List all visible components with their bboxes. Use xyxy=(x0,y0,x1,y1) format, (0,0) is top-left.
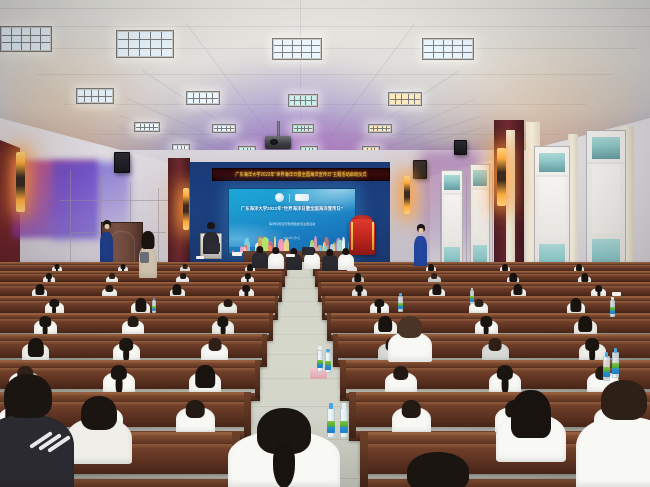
screen-subtitle: 海洋科普宣传暨增殖放流主题活动 xyxy=(239,222,345,226)
person-hair xyxy=(109,273,115,279)
water-bottle xyxy=(398,296,403,312)
window-mullion xyxy=(587,235,625,237)
ceiling-light-panel xyxy=(368,124,392,133)
partner-logo-icon xyxy=(295,194,309,201)
light-cell xyxy=(306,101,310,105)
light-cell xyxy=(178,146,181,149)
photographer xyxy=(139,232,157,278)
light-cell xyxy=(370,126,373,128)
bottle-cap xyxy=(329,403,334,408)
audience-member xyxy=(385,364,418,394)
water-bottle xyxy=(327,408,335,438)
guest-torso xyxy=(268,253,284,269)
light-cell xyxy=(309,126,312,128)
audience-member xyxy=(189,364,222,394)
light-cell xyxy=(92,90,98,96)
audience-member xyxy=(176,398,215,434)
projection-screen: 广东海洋大学2022年“世界海洋日暨全国海洋宣传日” 海洋科普宣传暨增殖放流主题… xyxy=(228,188,356,254)
bottle-cap xyxy=(318,346,321,350)
light-cell xyxy=(200,93,205,98)
audience-member xyxy=(113,337,140,362)
light-cell xyxy=(301,101,305,105)
person-hair-long xyxy=(514,284,523,295)
light-cell xyxy=(140,49,150,56)
light-cell xyxy=(174,146,177,149)
ceiling-seam xyxy=(0,8,650,9)
light-cell xyxy=(12,43,21,50)
foreground-head xyxy=(404,452,472,487)
person-hair-long xyxy=(578,316,592,332)
light-cell xyxy=(312,40,320,45)
usher-dress xyxy=(100,232,113,262)
drape-tassel-left xyxy=(351,222,353,250)
lecture-hall-photo: 广东海洋大学2022年“世界海洋日暨全国海洋宣传日”主题活动启动仪式 广东海洋大… xyxy=(0,0,650,487)
person-hair xyxy=(4,374,52,418)
audience-member xyxy=(489,364,522,394)
light-panel-grid xyxy=(118,32,172,56)
light-cell xyxy=(453,40,462,45)
guest-hair xyxy=(256,246,263,253)
light-cell xyxy=(31,28,40,35)
light-cell xyxy=(444,53,453,58)
light-cell xyxy=(207,99,212,104)
light-cell xyxy=(182,146,185,149)
camera-bag-icon xyxy=(140,252,149,263)
light-cell xyxy=(396,94,401,99)
light-cell xyxy=(312,46,320,51)
light-cell xyxy=(129,49,139,56)
stage-guest xyxy=(338,248,354,270)
desk-end-panel xyxy=(349,392,356,438)
wall-speaker xyxy=(454,140,467,155)
light-cell xyxy=(434,40,443,45)
window-mullion xyxy=(442,244,462,246)
light-cell xyxy=(2,43,11,50)
light-cell xyxy=(99,97,105,103)
person-hair-long xyxy=(570,298,581,311)
bottle-label xyxy=(317,360,323,369)
light-cell xyxy=(302,40,310,45)
desk-end-panel xyxy=(318,282,321,301)
person-hair-long xyxy=(510,273,517,282)
person-hair-long xyxy=(354,273,361,282)
light-cell xyxy=(207,93,212,98)
light-cell xyxy=(378,129,381,131)
person-torso xyxy=(576,417,650,487)
paper-sheet xyxy=(286,254,295,257)
light-cell xyxy=(218,126,221,128)
bottle-label xyxy=(398,303,403,309)
bottle-label xyxy=(325,361,331,369)
light-cell xyxy=(129,32,139,39)
light-cell xyxy=(188,93,193,98)
desk-end-panel xyxy=(360,432,368,487)
person-hair xyxy=(407,452,469,487)
light-cell xyxy=(390,94,395,99)
foreground-audience-member-left xyxy=(0,378,74,487)
water-bottle xyxy=(325,352,331,373)
light-cell xyxy=(295,96,299,100)
audience-member xyxy=(482,337,509,362)
desk-end-panel xyxy=(340,360,346,399)
person-hair xyxy=(81,396,117,430)
light-cell xyxy=(85,97,91,103)
light-cell xyxy=(298,129,301,131)
light-cell xyxy=(22,28,31,35)
stage-guest xyxy=(322,249,338,271)
window-mullion xyxy=(535,175,569,177)
light-cell xyxy=(2,28,11,35)
window-glass-top xyxy=(592,137,621,159)
light-cell xyxy=(302,46,310,51)
desk-end-panel xyxy=(279,282,282,301)
stage-guest xyxy=(286,248,302,270)
desk-end-panel xyxy=(282,271,285,286)
water-bottle xyxy=(610,300,615,317)
panel-seam xyxy=(60,200,168,201)
stage-guest xyxy=(268,247,284,269)
person-hair xyxy=(208,338,221,350)
light-cell xyxy=(136,128,140,131)
light-cell xyxy=(162,49,172,56)
ceiling-projector xyxy=(265,136,291,149)
light-cell xyxy=(312,101,316,105)
bottle-label xyxy=(612,363,619,373)
light-cell xyxy=(214,126,217,128)
light-cell xyxy=(283,40,291,45)
light-cell xyxy=(290,101,294,105)
usher-face xyxy=(104,224,109,229)
light-cell xyxy=(415,94,420,99)
window-glass-top xyxy=(473,170,487,186)
person-hair-long xyxy=(28,338,44,357)
light-panel-grid xyxy=(390,94,420,104)
water-bottle xyxy=(152,300,156,313)
person-hair-long xyxy=(195,365,215,388)
audience-member xyxy=(496,392,566,462)
light-cell xyxy=(294,126,297,128)
led-banner-text: 广东海洋大学2022年“世界海洋日暨全国海洋宣传日”主题活动启动仪式 xyxy=(235,171,367,178)
light-cell xyxy=(424,53,433,58)
light-cell xyxy=(136,124,140,127)
light-cell xyxy=(370,129,373,131)
ceiling-light-panel xyxy=(186,91,220,105)
foreground-audience-member xyxy=(228,408,340,487)
bottle-cap xyxy=(605,352,609,357)
screen-title: 广东海洋大学2022年“世界海洋日暨全国海洋宣传日” xyxy=(234,206,350,212)
window-curtain xyxy=(539,177,565,238)
audience-member xyxy=(103,364,136,394)
light-cell xyxy=(2,36,11,43)
usher-face xyxy=(418,228,423,233)
light-cell xyxy=(463,53,472,58)
drape-tassel-right xyxy=(372,222,374,250)
light-cell xyxy=(78,90,84,96)
light-cell xyxy=(92,97,98,103)
light-cell xyxy=(151,32,161,39)
person-hair-long xyxy=(581,273,588,282)
light-cell xyxy=(309,129,312,131)
light-cell xyxy=(41,28,50,35)
light-cell xyxy=(396,100,401,105)
water-bottle xyxy=(603,356,610,381)
light-cell xyxy=(85,90,91,96)
light-cell xyxy=(453,46,462,51)
bottle-cap xyxy=(614,348,618,353)
audience-member xyxy=(122,315,145,336)
person-hair xyxy=(402,400,421,418)
light-cell xyxy=(283,46,291,51)
bottle-label xyxy=(327,421,335,433)
bottle-cap xyxy=(611,297,614,300)
desk-end-panel xyxy=(275,296,278,318)
light-cell xyxy=(227,129,230,131)
bottle-cap xyxy=(326,349,329,353)
window-mullion xyxy=(587,162,625,164)
led-banner: 广东海洋大学2022年“世界海洋日暨全国海洋宣传日”主题活动启动仪式 xyxy=(212,168,390,181)
light-cell xyxy=(434,46,443,51)
light-panel-grid xyxy=(370,126,390,131)
light-panel-grid xyxy=(174,146,188,149)
light-cell xyxy=(374,126,377,128)
light-cell xyxy=(214,129,217,131)
light-cell xyxy=(415,100,420,105)
person-hair-long xyxy=(135,298,146,311)
light-cell xyxy=(141,124,145,127)
light-cell xyxy=(194,99,199,104)
screen-logo-bar xyxy=(275,193,309,202)
light-cell xyxy=(31,36,40,43)
paper-sheet xyxy=(232,252,242,256)
light-cell xyxy=(274,40,282,45)
light-cell xyxy=(22,36,31,43)
person-hair xyxy=(601,380,647,420)
light-cell xyxy=(402,94,407,99)
light-cell xyxy=(227,126,230,128)
light-panel-grid xyxy=(424,40,472,58)
window-curtain xyxy=(473,190,487,240)
person-hair-long xyxy=(432,284,441,295)
guest-torso xyxy=(322,255,338,271)
wall-sconce-light xyxy=(404,176,410,214)
light-cell xyxy=(434,53,443,58)
light-cell xyxy=(424,46,433,51)
light-cell xyxy=(290,96,294,100)
ceiling-light-panel xyxy=(288,94,318,107)
light-cell xyxy=(154,124,158,127)
desk-front-panel xyxy=(315,274,650,282)
wall-sconce-light xyxy=(16,152,25,212)
usher-left xyxy=(100,220,113,262)
foreground-audience-member-right xyxy=(576,386,650,487)
light-cell xyxy=(22,43,31,50)
light-cell xyxy=(106,97,112,103)
audience-member xyxy=(66,398,132,464)
light-cell xyxy=(302,126,305,128)
light-cell xyxy=(141,128,145,131)
person-hair xyxy=(223,299,232,307)
light-cell xyxy=(305,129,308,131)
person-hair xyxy=(182,264,187,268)
audience-member xyxy=(475,315,498,336)
light-cell xyxy=(162,40,172,47)
light-cell xyxy=(151,40,161,47)
bottle-label xyxy=(603,367,610,377)
light-cell xyxy=(302,53,310,58)
guest-hair xyxy=(342,248,349,255)
light-cell xyxy=(150,128,154,131)
light-cell xyxy=(222,126,225,128)
window-mullion xyxy=(442,193,462,195)
light-cell xyxy=(302,129,305,131)
desk-end-panel xyxy=(262,334,267,365)
bottle-cap xyxy=(342,403,347,408)
wall-sconce-light xyxy=(183,188,189,230)
guest-hair xyxy=(326,249,333,256)
light-cell xyxy=(293,46,301,51)
light-cell xyxy=(188,99,193,104)
projector-lens-icon xyxy=(270,139,278,145)
bottle-label xyxy=(340,421,348,433)
light-cell xyxy=(378,126,381,128)
person-hair xyxy=(186,400,205,418)
light-cell xyxy=(306,96,310,100)
person-torso xyxy=(0,415,74,487)
light-cell xyxy=(387,129,390,131)
desk-end-panel xyxy=(269,313,273,339)
light-cell xyxy=(312,96,316,100)
light-cell xyxy=(162,32,172,39)
window-mullion xyxy=(471,242,489,244)
light-cell xyxy=(41,36,50,43)
light-panel-grid xyxy=(290,96,316,105)
person-hair xyxy=(393,366,408,381)
person-hair xyxy=(489,338,502,350)
light-cell xyxy=(231,126,234,128)
light-cell xyxy=(463,46,472,51)
light-cell xyxy=(154,128,158,131)
light-cell xyxy=(140,32,150,39)
laptop xyxy=(206,243,220,252)
light-panel-grid xyxy=(2,28,50,50)
ceiling-light-panel xyxy=(422,38,474,60)
audience-member xyxy=(574,315,597,336)
person-hair xyxy=(474,299,483,307)
light-cell xyxy=(41,43,50,50)
person-ponytail xyxy=(273,442,295,487)
light-panel-grid xyxy=(136,124,158,130)
ceiling-light-panel xyxy=(0,26,52,52)
light-cell xyxy=(293,53,301,58)
light-cell xyxy=(12,36,21,43)
light-cell xyxy=(293,40,301,45)
light-cell xyxy=(301,96,305,100)
light-cell xyxy=(129,40,139,47)
paper-sheet xyxy=(196,256,204,259)
person-hair xyxy=(398,316,422,338)
wall-sconce-light xyxy=(497,148,506,206)
person-hair-long xyxy=(173,284,182,295)
light-cell xyxy=(150,124,154,127)
university-seal-icon xyxy=(275,193,284,202)
ceiling-light-panel xyxy=(76,88,114,104)
desk-end-panel xyxy=(255,360,261,399)
desk-end-panel xyxy=(322,296,325,318)
window-mullion xyxy=(535,240,569,242)
audience-member xyxy=(212,315,235,336)
light-cell xyxy=(298,126,301,128)
water-bottle xyxy=(340,408,348,438)
light-cell xyxy=(390,100,395,105)
light-cell xyxy=(444,40,453,45)
audience-member xyxy=(22,337,49,362)
desk-end-panel xyxy=(327,313,331,339)
ceiling-light-panel xyxy=(388,92,422,106)
light-cell xyxy=(274,53,282,58)
speaker-hair xyxy=(207,222,215,229)
logo-divider xyxy=(289,194,290,202)
paper-sheet xyxy=(612,292,621,296)
usher-right xyxy=(414,224,427,266)
light-cell xyxy=(31,43,40,50)
light-cell xyxy=(218,129,221,131)
audience-member xyxy=(34,315,57,336)
ceiling-light-panel xyxy=(272,38,322,60)
guest-torso xyxy=(304,253,320,269)
light-cell xyxy=(213,99,218,104)
light-cell xyxy=(463,40,472,45)
light-panel-grid xyxy=(294,126,312,131)
light-cell xyxy=(106,90,112,96)
window-curtain xyxy=(592,165,621,233)
light-cell xyxy=(424,40,433,45)
light-cell xyxy=(295,101,299,105)
light-panel-grid xyxy=(214,126,234,131)
light-cell xyxy=(453,53,462,58)
light-panel-grid xyxy=(78,90,112,102)
light-cell xyxy=(383,129,386,131)
audience-member xyxy=(392,398,431,434)
person-hair xyxy=(127,316,138,326)
water-bottle xyxy=(470,290,474,304)
water-bottle xyxy=(612,352,619,378)
light-cell xyxy=(383,126,386,128)
stage-guest xyxy=(252,246,268,268)
light-cell xyxy=(151,49,161,56)
person-hair xyxy=(431,273,437,279)
light-cell xyxy=(409,100,414,105)
bottle-label xyxy=(610,307,615,314)
light-cell xyxy=(78,97,84,103)
photographer-hair xyxy=(142,231,155,249)
window-glass-top xyxy=(539,153,565,172)
light-cell xyxy=(312,53,320,58)
light-panel-grid xyxy=(188,93,218,103)
guest-torso xyxy=(338,254,354,270)
person-hair-long xyxy=(511,390,551,438)
bottle-label xyxy=(152,306,156,311)
wall-speaker xyxy=(114,152,130,173)
light-cell xyxy=(274,46,282,51)
usher-dress xyxy=(414,236,427,266)
light-cell xyxy=(213,93,218,98)
audience-member xyxy=(201,337,228,362)
light-cell xyxy=(231,129,234,131)
light-cell xyxy=(305,126,308,128)
water-bottle xyxy=(317,350,323,372)
light-cell xyxy=(99,90,105,96)
light-cell xyxy=(374,129,377,131)
